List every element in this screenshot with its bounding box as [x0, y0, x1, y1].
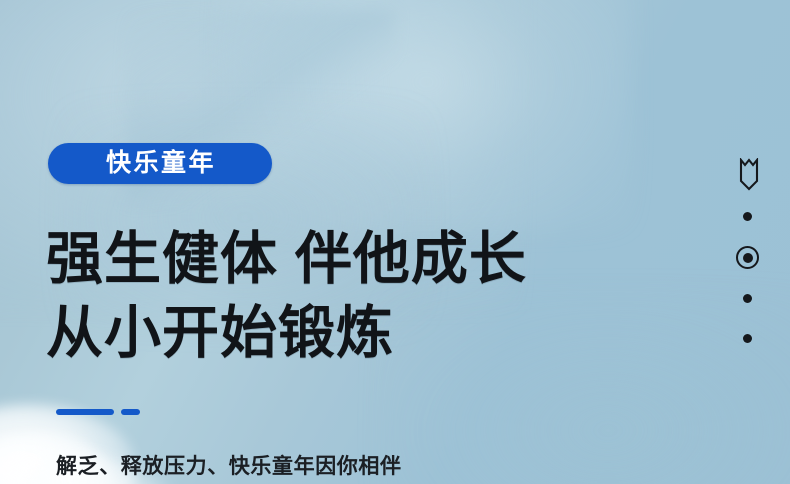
promo-badge-label: 快乐童年 [104, 151, 216, 176]
pagination-dot-1[interactable] [743, 212, 752, 221]
headline-line-2: 从小开始锻炼 [46, 296, 686, 370]
divider [56, 409, 140, 415]
promo-badge[interactable]: 快乐童年 [48, 143, 272, 184]
side-rail [708, 0, 790, 484]
banner-content: 快乐童年 强生健体 伴他成长 从小开始锻炼 解乏、释放压力、快乐童年因你相伴 [46, 0, 686, 484]
headline-line-1: 强生健体 伴他成长 [46, 222, 686, 296]
hero-banner: 快乐童年 强生健体 伴他成长 从小开始锻炼 解乏、释放压力、快乐童年因你相伴 [0, 0, 790, 484]
shield-bookmark-icon[interactable] [739, 158, 759, 191]
pagination-dot-4[interactable] [743, 334, 752, 343]
divider-bar-long [56, 409, 114, 415]
pagination-dot-2[interactable] [743, 294, 752, 303]
divider-bar-short [121, 409, 140, 415]
pagination-dot-3-active[interactable] [736, 246, 759, 269]
subtitle: 解乏、释放压力、快乐童年因你相伴 [56, 453, 402, 481]
page-title: 强生健体 伴他成长 从小开始锻炼 [46, 222, 686, 370]
